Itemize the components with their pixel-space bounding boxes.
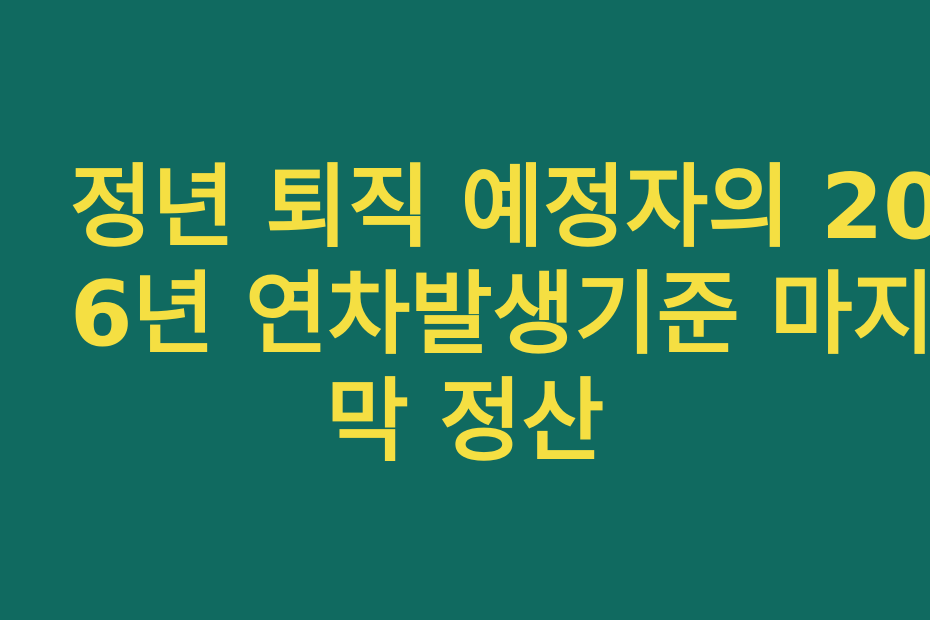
title-line-1: 정년 퇴직 예정자의 202	[70, 154, 860, 261]
title-line-3: 막 정산	[70, 368, 860, 475]
title-line-2: 6년 연차발생기준 마지	[70, 261, 860, 368]
thumbnail-card: 정년 퇴직 예정자의 202 6년 연차발생기준 마지 막 정산	[0, 0, 930, 620]
title-text-block: 정년 퇴직 예정자의 202 6년 연차발생기준 마지 막 정산	[70, 154, 860, 475]
